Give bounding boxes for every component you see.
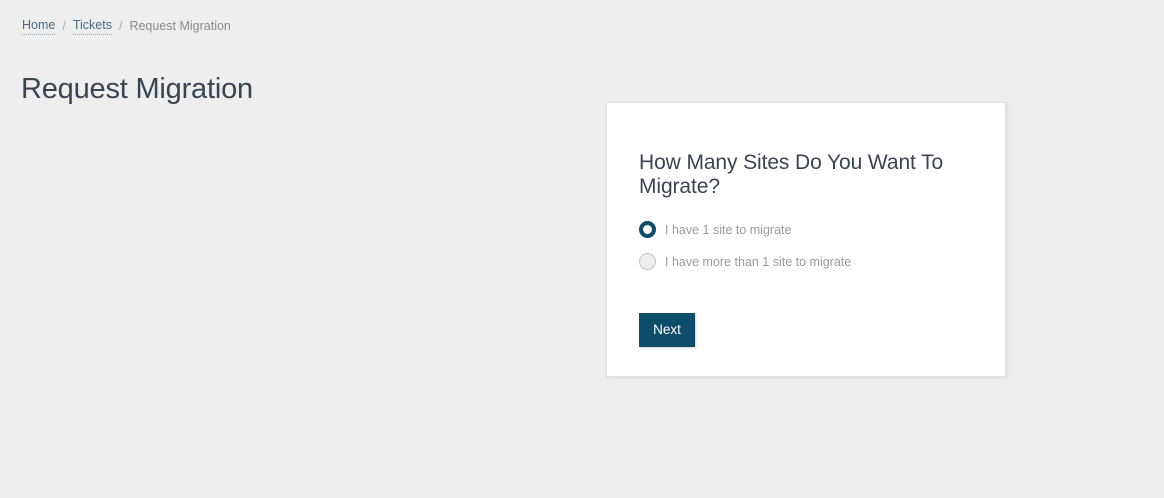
breadcrumb-item-current: Request Migration: [129, 18, 230, 34]
breadcrumb-item-tickets[interactable]: Tickets: [73, 17, 112, 35]
radio-option-label: I have more than 1 site to migrate: [665, 254, 851, 270]
site-count-radio-group: I have 1 site to migrate I have more tha…: [639, 219, 979, 283]
radio-selected-icon[interactable]: [639, 221, 656, 238]
radio-option-single-site[interactable]: I have 1 site to migrate: [639, 219, 979, 240]
page-title: Request Migration: [21, 72, 253, 106]
breadcrumb-item-home[interactable]: Home: [22, 17, 55, 35]
card-heading: How Many Sites Do You Want To Migrate?: [639, 151, 959, 199]
page-body: { "breadcrumb": { "separator": "/", "ite…: [0, 0, 1164, 498]
radio-option-multiple-sites[interactable]: I have more than 1 site to migrate: [639, 251, 979, 272]
breadcrumb-separator: /: [62, 18, 65, 34]
migration-form-card: How Many Sites Do You Want To Migrate? I…: [606, 102, 1006, 377]
breadcrumb-separator: /: [119, 18, 122, 34]
next-button[interactable]: Next: [639, 313, 695, 347]
radio-unselected-icon[interactable]: [639, 253, 656, 270]
breadcrumb: Home / Tickets / Request Migration: [22, 17, 231, 35]
radio-option-label: I have 1 site to migrate: [665, 222, 791, 238]
